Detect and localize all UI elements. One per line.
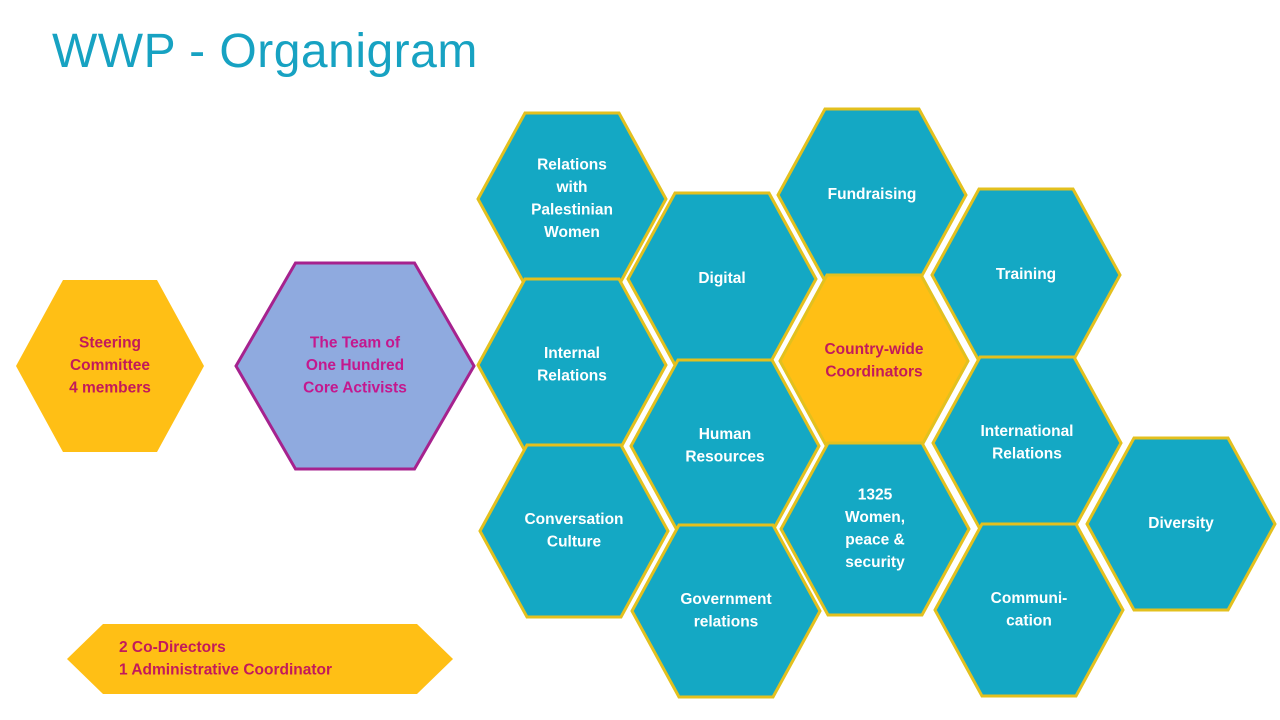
left-group: SteeringCommittee4 membersThe Team ofOne… (16, 263, 474, 694)
hex-shape (236, 263, 474, 469)
hex-cell-communication[interactable]: Communi-cation (935, 524, 1123, 696)
hex-shape (933, 357, 1121, 529)
organigram-diagram: SteeringCommittee4 membersThe Team ofOne… (0, 0, 1280, 720)
hex-shape (631, 360, 819, 532)
hex-cell-training[interactable]: Training (932, 189, 1120, 361)
hex-cell-country-wide-coordinators[interactable]: Country-wideCoordinators (780, 275, 968, 447)
steering-committee-hexagon[interactable]: SteeringCommittee4 members (16, 280, 204, 452)
hex-cell-human-resources[interactable]: HumanResources (631, 360, 819, 532)
hex-cell-internal-relations[interactable]: InternalRelations (478, 279, 666, 451)
hex-cell-international-relations[interactable]: InternationalRelations (933, 357, 1121, 529)
hex-shape (478, 279, 666, 451)
banner-shape (67, 624, 453, 694)
hex-shape (480, 445, 668, 617)
core-activists-hexagon[interactable]: The Team ofOne HundredCore Activists (236, 263, 474, 469)
honeycomb-group: RelationswithPalestinianWomenDigitalFund… (478, 109, 1275, 697)
directors-banner[interactable]: 2 Co-Directors1 Administrative Coordinat… (67, 624, 453, 694)
hex-shape (16, 280, 204, 452)
hex-shape (780, 275, 968, 447)
hex-cell-fundraising[interactable]: Fundraising (778, 109, 966, 281)
hex-cell-conversation-culture[interactable]: ConversationCulture (480, 445, 668, 617)
hex-shape (935, 524, 1123, 696)
organigram-slide: WWP - Organigram SteeringCommittee4 memb… (0, 0, 1280, 720)
hex-shape (1087, 438, 1275, 610)
hex-cell-diversity[interactable]: Diversity (1087, 438, 1275, 610)
hex-shape (778, 109, 966, 281)
hex-shape (932, 189, 1120, 361)
